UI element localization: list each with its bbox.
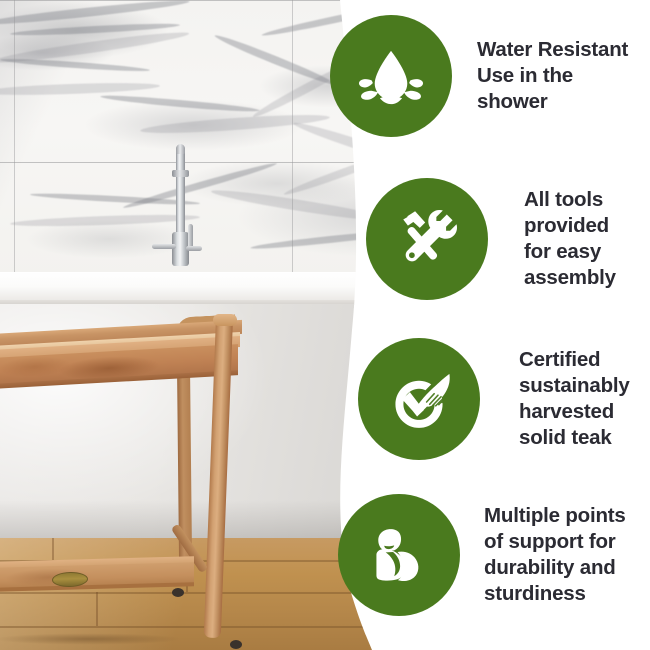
tile-grout-line	[14, 0, 15, 278]
bench-floor-shadow	[0, 632, 250, 646]
feature-badge-circle	[338, 494, 460, 616]
bench-leg-cap	[213, 314, 237, 326]
leaf-checkmark-icon	[381, 361, 457, 437]
chrome-faucet-collar	[172, 170, 189, 177]
water-drop-icon	[354, 39, 428, 113]
bench-foot-pad	[172, 588, 184, 597]
feature-badge-circle	[358, 338, 480, 460]
flexed-bicep-icon	[362, 518, 436, 592]
tile-grout-line	[0, 0, 420, 1]
teak-bench	[0, 300, 290, 650]
hammer-wrench-icon	[391, 203, 463, 275]
feature-water-resistant: Water Resistant Use in the shower	[330, 15, 628, 137]
feature-label: All tools provided for easy assembly	[524, 187, 616, 292]
feature-badge-circle	[366, 178, 488, 300]
feature-badge-circle	[330, 15, 452, 137]
feature-label: Water Resistant Use in the shower	[477, 37, 628, 116]
tile-grout-line	[292, 0, 293, 278]
faucet-handle-right-arm	[186, 246, 202, 251]
chrome-faucet-top	[176, 144, 185, 154]
infographic-canvas: Water Resistant Use in the shower All to…	[0, 0, 650, 650]
feature-label: Certified sustainably harvested solid te…	[519, 347, 630, 452]
feature-certified-sustainable: Certified sustainably harvested solid te…	[358, 338, 630, 460]
feature-label: Multiple points of support for durabilit…	[484, 503, 626, 608]
feature-all-tools-provided: All tools provided for easy assembly	[366, 178, 616, 300]
faucet-handle-left	[152, 244, 176, 249]
tile-grout-line	[0, 162, 420, 163]
feature-multiple-support-points: Multiple points of support for durabilit…	[338, 494, 626, 616]
